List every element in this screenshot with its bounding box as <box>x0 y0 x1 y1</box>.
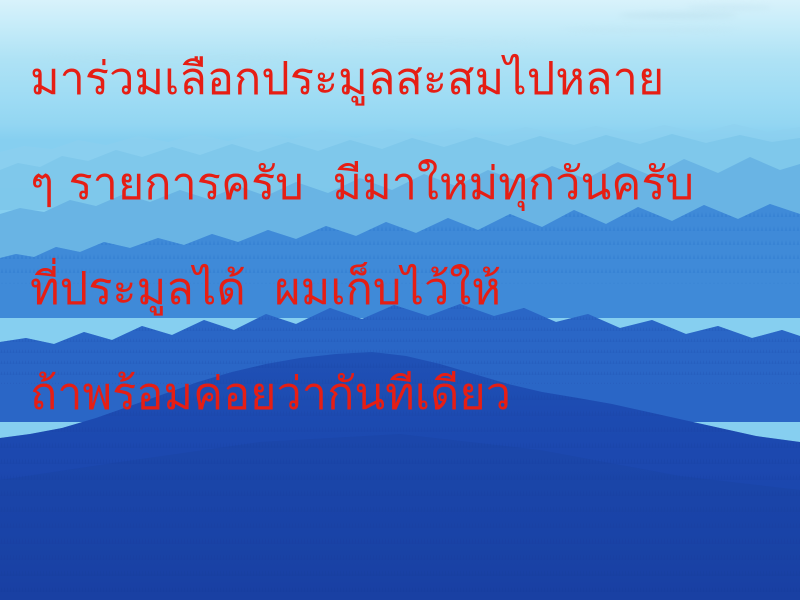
image-canvas: มาร่วมเลือกประมูลสะสมไปหลาย ๆ รายการครับ… <box>0 0 800 600</box>
caption-line-4: ถ้าพร้อมค่อยว่ากันทีเดียว <box>30 371 790 416</box>
caption-line-2: ๆ รายการครับ มีมาใหม่ทุกวันครับ <box>30 161 790 206</box>
caption-line-1: มาร่วมเลือกประมูลสะสมไปหลาย <box>30 56 790 101</box>
caption-line-3: ที่ประมูลได้ ผมเก็บไว้ให้ <box>30 266 790 311</box>
caption-overlay: มาร่วมเลือกประมูลสะสมไปหลาย ๆ รายการครับ… <box>0 0 800 600</box>
